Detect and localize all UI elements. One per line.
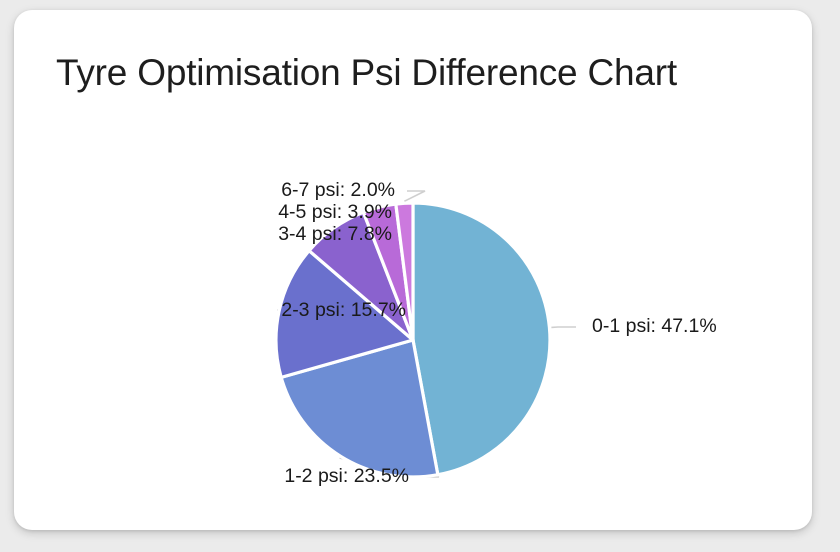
chart-card: Tyre Optimisation Psi Difference Chart 0… <box>14 10 812 530</box>
pie-slice-label: 0-1 psi: 47.1% <box>592 315 717 337</box>
pie-chart-svg: 0-1 psi: 47.1%1-2 psi: 23.5%2-3 psi: 15.… <box>14 10 812 530</box>
pie-chart-plot: 0-1 psi: 47.1%1-2 psi: 23.5%2-3 psi: 15.… <box>14 10 812 530</box>
label-leader-line <box>404 191 425 201</box>
screenshot-root: Tyre Optimisation Psi Difference Chart 0… <box>0 0 840 552</box>
pie-slice-label: 6-7 psi: 2.0% <box>281 179 395 201</box>
pie-slice[interactable] <box>413 203 550 475</box>
pie-slice-label: 4-5 psi: 3.9% <box>278 201 392 223</box>
pie-slice-label: 1-2 psi: 23.5% <box>284 465 409 487</box>
pie-slice-label: 2-3 psi: 15.7% <box>281 299 406 321</box>
pie-slice-label: 3-4 psi: 7.8% <box>278 223 392 245</box>
